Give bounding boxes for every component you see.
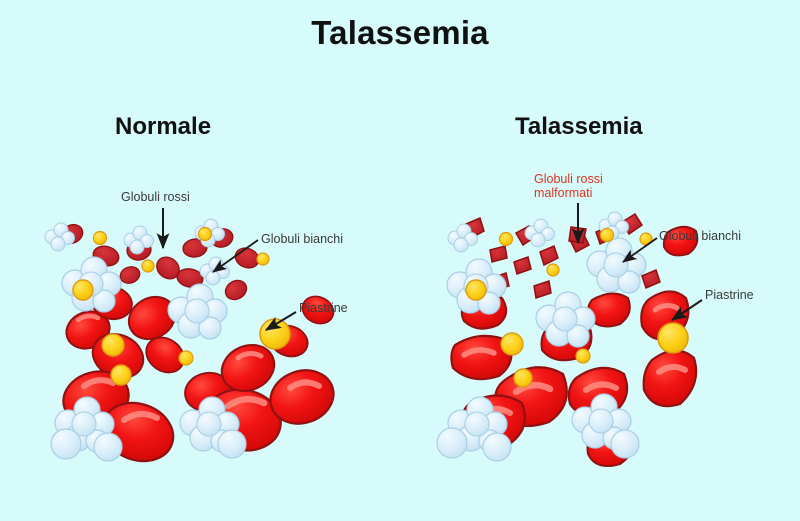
label-globuli-bianchi-normale: Globuli bianchi (261, 232, 343, 246)
label-line-1: Globuli rossi (534, 172, 603, 186)
illustration-canvas: Talassemia Normale Talassemia (0, 0, 800, 521)
blood-cell-artwork (0, 0, 800, 521)
panel-normale-cells (45, 208, 340, 471)
label-line-2: malformati (534, 186, 603, 200)
label-globuli-rossi-normale: Globuli rossi (121, 190, 190, 204)
label-globuli-bianchi-talassemia: Globuli bianchi (659, 229, 741, 243)
label-piastrine-talassemia: Piastrine (705, 288, 754, 302)
label-globuli-rossi-malformati: Globuli rossi malformati (534, 172, 603, 200)
label-piastrine-normale: Piastrine (299, 301, 348, 315)
